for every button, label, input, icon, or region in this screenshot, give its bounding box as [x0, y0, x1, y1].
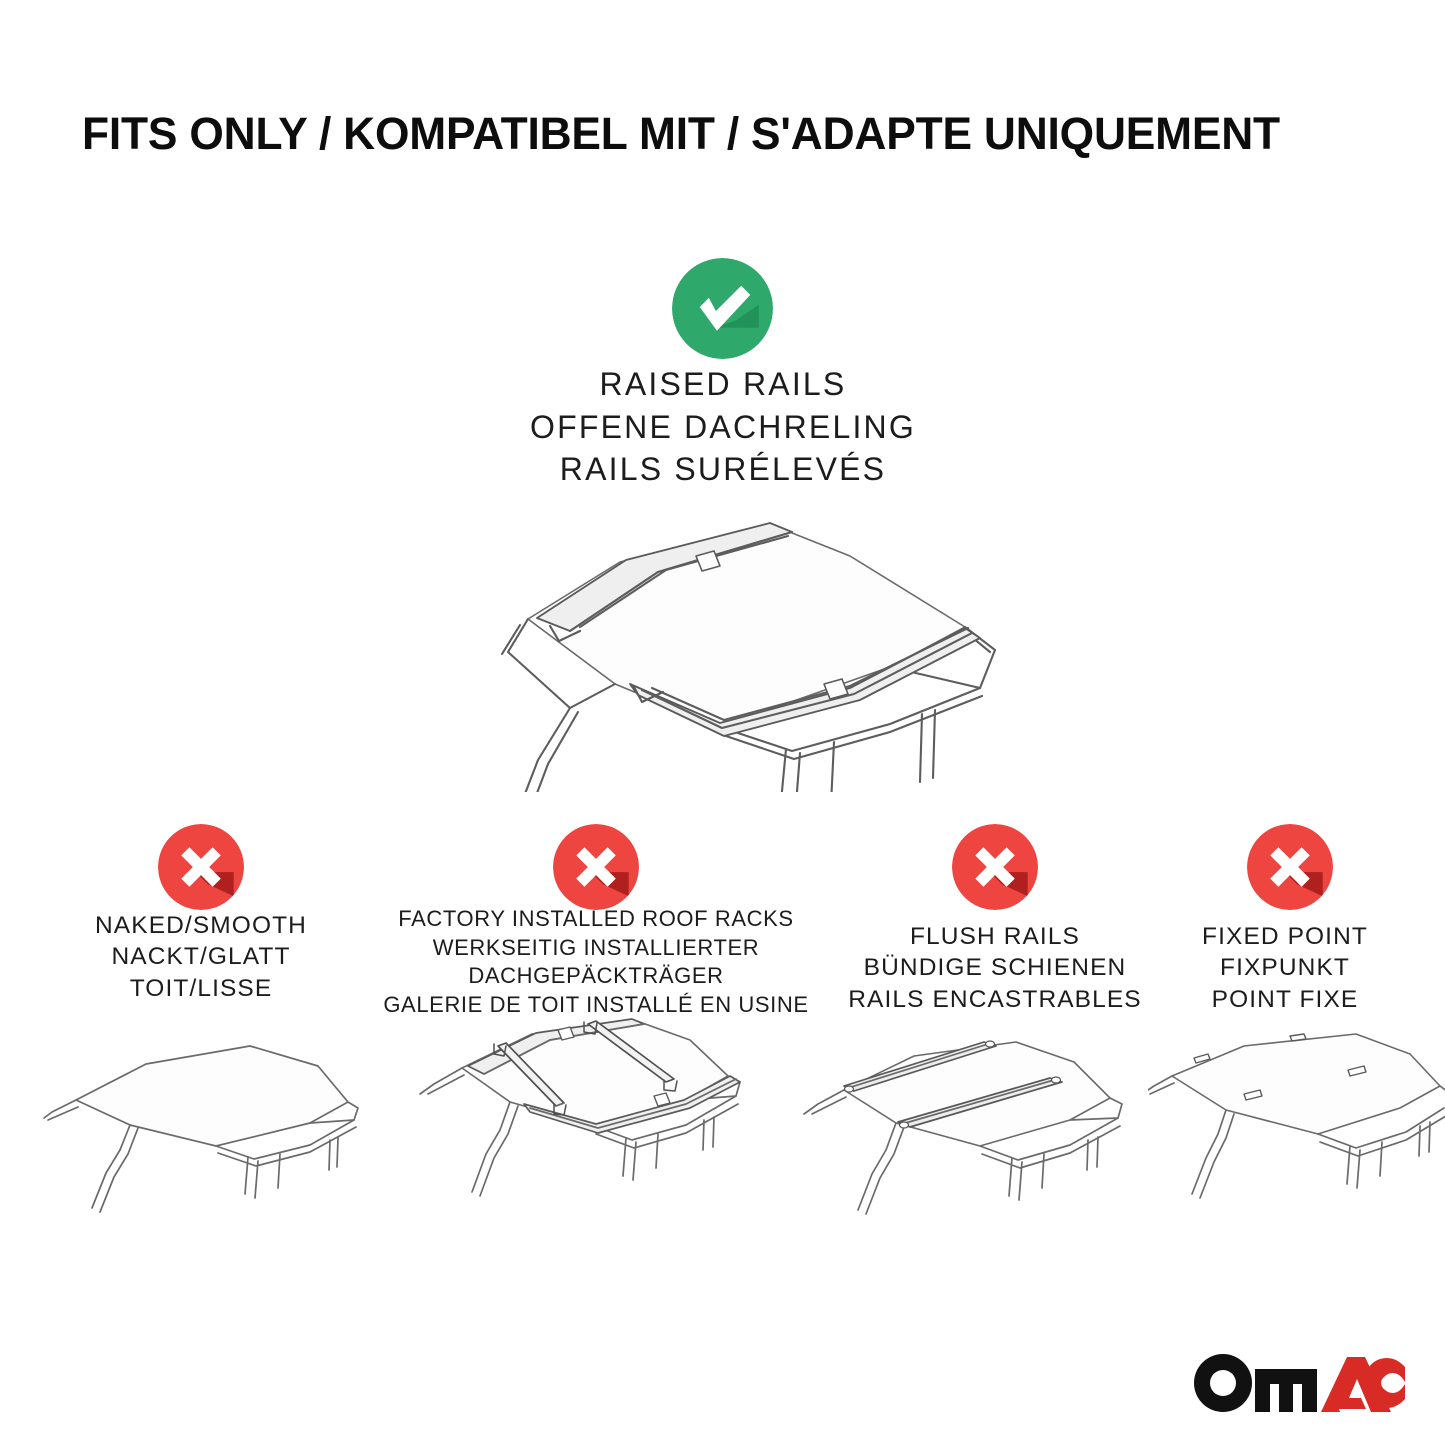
car-roof-flush-rails-illustration [788, 1028, 1168, 1273]
compatible-line-de: OFFENE DACHRELING [423, 406, 1023, 449]
cross-circle-icon [158, 824, 244, 910]
compatible-line-fr: RAILS SURÉLEVÉS [423, 448, 1023, 491]
compatible-line-en: RAISED RAILS [423, 363, 1023, 406]
cross-circle-icon [1247, 824, 1333, 910]
factory-roof-racks-line-en: FACTORY INSTALLED ROOF RACKS [366, 905, 826, 934]
fixed-point-line-de: FIXPUNKT [1135, 952, 1435, 983]
fixed-point-line-en: FIXED POINT [1135, 921, 1435, 952]
car-roof-fixed-point-illustration [1148, 1028, 1445, 1273]
fixed-point-line-fr: POINT FIXE [1135, 984, 1435, 1015]
naked-smooth-line-fr: TOIT/LISSE [41, 973, 361, 1004]
car-roof-raised-rails-illustration [420, 492, 1010, 792]
factory-roof-racks-line-de-2: DACHGEPÄCKTRÄGER [366, 962, 826, 991]
fixed-point-caption: FIXED POINT FIXPUNKT POINT FIXE [1135, 921, 1435, 1015]
page-title: FITS ONLY / KOMPATIBEL MIT / S'ADAPTE UN… [82, 106, 1353, 162]
cross-circle-icon [553, 824, 639, 910]
naked-smooth-line-en: NAKED/SMOOTH [41, 910, 361, 941]
naked-smooth-line-de: NACKT/GLATT [41, 941, 361, 972]
car-roof-factory-racks-illustration [398, 1008, 778, 1273]
cross-circle-icon [952, 824, 1038, 910]
check-circle-icon [672, 258, 773, 359]
compatible-caption: RAISED RAILS OFFENE DACHRELING RAILS SUR… [423, 363, 1023, 491]
car-roof-naked-illustration [18, 1028, 388, 1273]
omac-logo [1189, 1351, 1405, 1415]
factory-roof-racks-line-de-1: WERKSEITIG INSTALLIERTER [366, 934, 826, 963]
naked-smooth-caption: NAKED/SMOOTH NACKT/GLATT TOIT/LISSE [41, 910, 361, 1004]
flush-rails-line-de: BÜNDIGE SCHIENEN [835, 952, 1155, 983]
flush-rails-caption: FLUSH RAILS BÜNDIGE SCHIENEN RAILS ENCAS… [835, 921, 1155, 1015]
flush-rails-line-en: FLUSH RAILS [835, 921, 1155, 952]
factory-roof-racks-caption: FACTORY INSTALLED ROOF RACKS WERKSEITIG … [366, 905, 826, 1019]
flush-rails-line-fr: RAILS ENCASTRABLES [835, 984, 1155, 1015]
